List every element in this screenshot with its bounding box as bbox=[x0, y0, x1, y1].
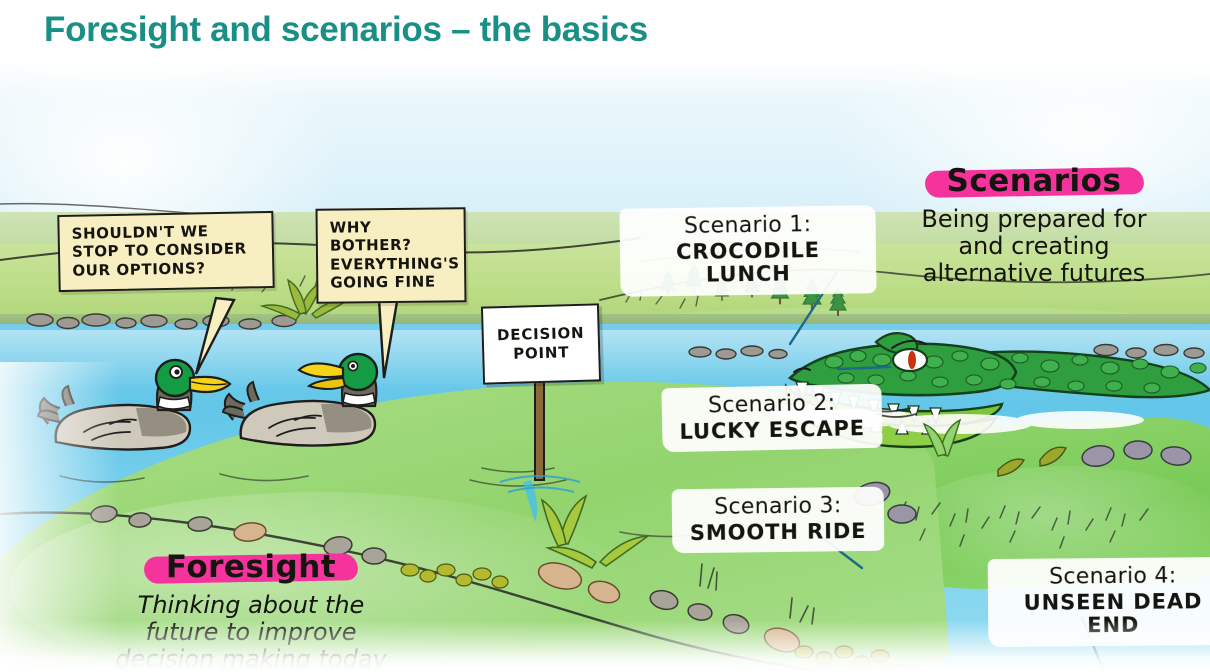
scenarios-heading: Scenarios bbox=[925, 162, 1144, 202]
duck-left-speech-bubble: SHOULDN'T WE STOP TO CONSIDER OUR OPTION… bbox=[57, 211, 274, 292]
sign-line: DECISION bbox=[497, 324, 585, 345]
speech-line: GOING FINE bbox=[330, 272, 452, 292]
speech-line: EVERYTHING'S bbox=[330, 254, 452, 274]
scenarios-concept-block: Scenarios Being prepared for and creatin… bbox=[884, 162, 1184, 287]
speech-line: OUR OPTIONS? bbox=[72, 258, 260, 280]
speech-tail-left bbox=[196, 298, 234, 374]
scenarios-body-line: alternative futures bbox=[884, 260, 1184, 287]
scenario-number: Scenario 1: bbox=[635, 212, 859, 240]
bottom-edge-fade bbox=[0, 620, 1210, 672]
scenario-label-3: Scenario 3: SMOOTH RIDE bbox=[672, 487, 885, 554]
sign-line: POINT bbox=[513, 343, 570, 363]
scenario-number: Scenario 4: bbox=[1004, 564, 1210, 591]
scenarios-body-line: Being prepared for bbox=[884, 206, 1184, 233]
page-title: Foresight and scenarios – the basics bbox=[44, 10, 648, 50]
speech-line: WHY BOTHER? bbox=[330, 217, 452, 255]
scenario-name: LUCKY ESCAPE bbox=[678, 417, 866, 444]
scenarios-body: Being prepared for and creating alternat… bbox=[884, 206, 1184, 287]
scenario-label-1: Scenario 1: CROCODILE LUNCH bbox=[619, 205, 876, 296]
scenario-label-2: Scenario 2: LUCKY ESCAPE bbox=[661, 384, 882, 453]
scenarios-body-line: and creating bbox=[884, 233, 1184, 260]
speech-line: STOP TO CONSIDER bbox=[72, 239, 260, 261]
scenario-name: CROCODILE LUNCH bbox=[636, 238, 861, 288]
illustration-canvas: Foresight and scenarios – the basics bbox=[0, 0, 1210, 672]
scenario-name: SMOOTH RIDE bbox=[688, 520, 868, 546]
scenario-number: Scenario 2: bbox=[677, 391, 865, 420]
scenario-number: Scenario 3: bbox=[688, 494, 868, 521]
scene: SHOULDN'T WE STOP TO CONSIDER OUR OPTION… bbox=[0, 62, 1210, 672]
decision-point-sign: DECISION POINT bbox=[481, 303, 601, 384]
foresight-body-line: Thinking about the bbox=[86, 592, 416, 619]
foresight-heading: Foresight bbox=[144, 548, 358, 588]
duck-right-speech-bubble: WHY BOTHER? EVERYTHING'S GOING FINE bbox=[316, 207, 467, 304]
